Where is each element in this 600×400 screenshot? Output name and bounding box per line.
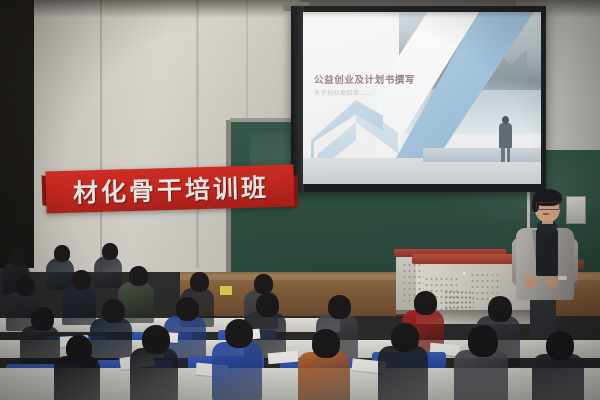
glasses-icon [536,202,560,210]
student-front-grey-head [468,325,498,357]
student-mid-red-head [414,291,437,315]
student-mid-navy-head [102,299,125,323]
speaker-hand-right [545,276,558,288]
student-back-navy-head [72,270,91,290]
speaker-mouth [543,213,549,215]
slide-figure-legs [501,147,510,162]
speaker-turtleneck [536,226,558,276]
student-mid-grey-head [328,295,351,319]
student-back-navy [62,286,96,325]
student-far-three-head [102,243,118,260]
projection-screen: 公益创业及计划书撰写 关于创业项目及…… [303,12,541,184]
lectern-vent [444,290,474,310]
banner-text: 材化骨干培训班 [52,167,291,212]
slide-platform [423,148,541,162]
classroom-lecture-photo: 公益创业及计划书撰写 关于创业项目及…… 材化骨干培训班 [0,0,600,400]
student-back-grey-head [254,274,273,294]
student-far-two [46,258,74,290]
student-back-left-head [16,276,35,296]
left-dark-wall [0,0,34,268]
student-mid-dark-head [256,293,279,317]
student-front-mid [130,348,178,400]
student-far-three [94,256,122,288]
student-front-blue-head [225,319,253,348]
student-front-mid-head [142,325,170,354]
student-far-two-head [54,245,70,262]
wristwatch-icon [558,276,567,280]
student-front-right [532,354,584,400]
student-mid-puffer-head [488,296,512,321]
slide-figure-head [502,116,509,124]
student-front-grey [454,350,508,400]
student-front-left-head [66,335,92,362]
student-mid-left-head [31,307,54,331]
slide-title: 公益创业及计划书撰写 [314,72,415,86]
student-back-green-head [129,266,148,286]
student-front-blue [212,342,262,400]
slide-figure-body [499,123,512,148]
ceiling-shadow [0,0,600,18]
power-led-icon [463,272,466,275]
student-front-orange-head [312,329,340,358]
speaker-hand-left [525,276,538,288]
yellow-wall-sign [220,286,232,295]
wall-control-box[interactable] [566,196,586,224]
wall-seam [196,0,199,268]
student-front-right-head [546,331,574,360]
wall-seam [100,0,102,272]
student-back-dark-head [190,272,209,292]
student-mid-blue-head [176,297,199,321]
student-front-dark [378,346,428,400]
student-front-left [54,356,100,400]
student-front-orange [298,352,350,400]
slide-subtitle: 关于创业项目及…… [314,88,373,97]
student-far-left-head [10,249,26,266]
student-front-dark-head [391,323,419,352]
